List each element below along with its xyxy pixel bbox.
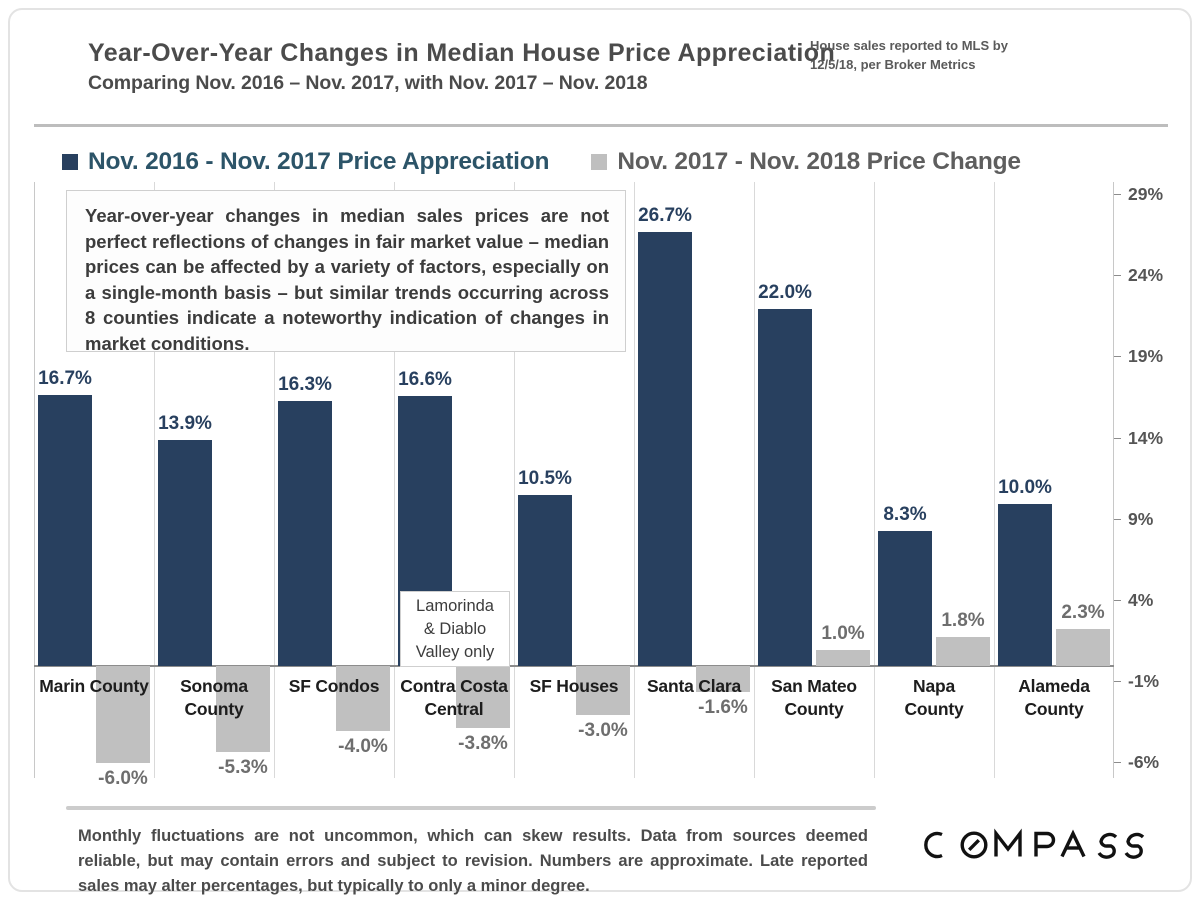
category-label: AlamedaCounty xyxy=(994,675,1114,721)
category-label-line: Contra Costa xyxy=(394,675,514,698)
legend-item-2016-2017: Nov. 2016 - Nov. 2017 Price Appreciation xyxy=(62,148,549,176)
bar-2016-2017 xyxy=(518,495,572,666)
callout-line-1: Lamorinda xyxy=(401,595,509,618)
category-label-line: San Mateo xyxy=(754,675,874,698)
footer-divider xyxy=(66,806,876,810)
bar-value-label-2016-2017: 16.6% xyxy=(380,369,470,391)
source-note-line-1: House sales reported to MLS by xyxy=(810,36,1100,55)
bar-value-label-2016-2017: 26.7% xyxy=(620,205,710,227)
y-axis-tick: 29% xyxy=(1114,184,1163,205)
y-axis-tick-label: 29% xyxy=(1128,184,1163,205)
bar-value-label-2017-2018: -5.3% xyxy=(198,757,288,779)
bar-2017-2018 xyxy=(936,637,990,666)
y-axis-tick-label: -6% xyxy=(1128,752,1159,773)
bar-2016-2017 xyxy=(278,401,332,666)
category-label-line: County xyxy=(874,698,994,721)
category-label-line: SF Condos xyxy=(274,675,394,698)
y-axis-tick: 19% xyxy=(1114,346,1163,367)
y-axis-tick-mark xyxy=(1114,194,1121,195)
category-label-line: Central xyxy=(394,698,514,721)
callout-line-3: Valley only xyxy=(401,641,509,664)
legend-swatch-navy-icon xyxy=(62,154,78,170)
bar-value-label-2017-2018: -6.0% xyxy=(78,768,168,790)
bar-2017-2018 xyxy=(1056,629,1110,666)
y-axis-tick: -6% xyxy=(1114,752,1159,773)
y-axis-tick-mark xyxy=(1114,356,1121,357)
y-axis-tick-label: -1% xyxy=(1128,671,1159,692)
y-axis-tick-label: 19% xyxy=(1128,346,1163,367)
callout-lamorinda: Lamorinda & Diablo Valley only xyxy=(400,591,510,667)
category-label-line: Sonoma County xyxy=(154,675,274,721)
legend-label-2016-2017: Nov. 2016 - Nov. 2017 Price Appreciation xyxy=(88,148,549,176)
chart-legend: Nov. 2016 - Nov. 2017 Price Appreciation… xyxy=(62,148,1021,176)
category-label: Sonoma County xyxy=(154,675,274,721)
bar-value-label-2016-2017: 16.7% xyxy=(20,368,110,390)
y-axis-tick: 9% xyxy=(1114,509,1153,530)
category-label: NapaCounty xyxy=(874,675,994,721)
annotation-textbox: Year-over-year changes in median sales p… xyxy=(66,190,626,352)
bar-2016-2017 xyxy=(638,232,692,666)
bar-value-label-2017-2018: -3.8% xyxy=(438,733,528,755)
bar-value-label-2017-2018: -4.0% xyxy=(318,736,408,758)
y-axis-tick: 4% xyxy=(1114,590,1153,611)
y-axis-tick: 14% xyxy=(1114,428,1163,449)
bar-value-label-2017-2018: 1.8% xyxy=(918,610,1008,632)
category-label: San MateoCounty xyxy=(754,675,874,721)
header-divider xyxy=(34,124,1168,127)
category-label: Marin County xyxy=(34,675,154,698)
y-axis-tick-mark xyxy=(1114,762,1121,763)
footer-disclaimer: Monthly fluctuations are not uncommon, w… xyxy=(78,824,868,899)
bar-2016-2017 xyxy=(758,309,812,666)
bar-2016-2017 xyxy=(878,531,932,666)
bar-2016-2017 xyxy=(158,440,212,666)
y-axis-tick-mark xyxy=(1114,519,1121,520)
legend-item-2017-2018: Nov. 2017 - Nov. 2018 Price Change xyxy=(591,148,1021,176)
y-axis-tick-mark xyxy=(1114,600,1121,601)
bar-value-label-2016-2017: 16.3% xyxy=(260,374,350,396)
category-label-line: SF Houses xyxy=(514,675,634,698)
y-axis-tick-label: 4% xyxy=(1128,590,1153,611)
bar-value-label-2017-2018: 1.0% xyxy=(798,623,888,645)
y-axis-tick-label: 9% xyxy=(1128,509,1153,530)
category-label: SF Condos xyxy=(274,675,394,698)
y-axis-tick-label: 24% xyxy=(1128,265,1163,286)
legend-swatch-gray-icon xyxy=(591,154,607,170)
category-label-line: Marin County xyxy=(34,675,154,698)
source-note-line-2: 12/5/18, per Broker Metrics xyxy=(810,55,1100,74)
category-label-line: Napa xyxy=(874,675,994,698)
legend-label-2017-2018: Nov. 2017 - Nov. 2018 Price Change xyxy=(617,148,1021,176)
category-label-line: County xyxy=(754,698,874,721)
bar-value-label-2016-2017: 10.5% xyxy=(500,468,590,490)
category-label: Contra CostaCentral xyxy=(394,675,514,721)
y-axis: 29%24%19%14%9%4%-1%-6% xyxy=(1114,182,1194,778)
bar-value-label-2016-2017: 13.9% xyxy=(140,413,230,435)
bar-value-label-2016-2017: 22.0% xyxy=(740,282,830,304)
y-axis-tick: 24% xyxy=(1114,265,1163,286)
category-label-line: Alameda xyxy=(994,675,1114,698)
bar-value-label-2016-2017: 8.3% xyxy=(860,504,950,526)
y-axis-tick-mark xyxy=(1114,438,1121,439)
bar-2016-2017 xyxy=(38,395,92,666)
source-note: House sales reported to MLS by 12/5/18, … xyxy=(810,36,1100,74)
category-label: Santa Clara xyxy=(634,675,754,698)
y-axis-tick-label: 14% xyxy=(1128,428,1163,449)
category-label: SF Houses xyxy=(514,675,634,698)
y-axis-tick-mark xyxy=(1114,681,1121,682)
callout-line-2: & Diablo xyxy=(401,618,509,641)
bar-value-label-2017-2018: -3.0% xyxy=(558,720,648,742)
compass-logo xyxy=(916,822,1146,868)
y-axis-tick-mark xyxy=(1114,275,1121,276)
slide-canvas: Year-Over-Year Changes in Median House P… xyxy=(0,0,1200,900)
y-axis-tick: -1% xyxy=(1114,671,1159,692)
category-label-line: Santa Clara xyxy=(634,675,754,698)
bar-value-label-2016-2017: 10.0% xyxy=(980,477,1070,499)
category-label-line: County xyxy=(994,698,1114,721)
bar-2017-2018 xyxy=(816,650,870,666)
bar-2016-2017 xyxy=(998,504,1052,666)
